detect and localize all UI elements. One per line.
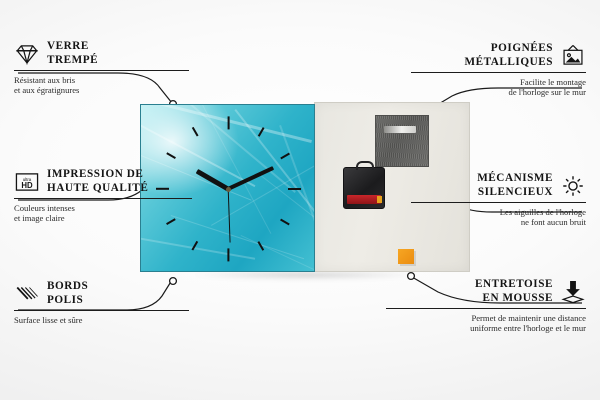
feature-desc: Facilite le montage de l'horloge sur le … [411, 77, 586, 98]
feature-title: MÉCANISME SILENCIEUX [477, 172, 553, 199]
metal-hanger-plate [375, 115, 429, 167]
feature-desc: Couleurs intenses et image claire [14, 203, 192, 224]
ultra-hd-icon: ultra HD [14, 169, 40, 195]
feature-divider [14, 70, 189, 71]
clock-tick [280, 153, 289, 159]
feature-divider [411, 72, 586, 73]
feature-divider [14, 198, 192, 199]
feature-poignees-metalliques: POIGNÉES MÉTALLIQUES Facilite le montage… [411, 42, 586, 98]
hanger-slot-icon [384, 126, 416, 133]
clock-mechanism [343, 167, 385, 209]
clock-tick [166, 153, 175, 159]
gear-icon [560, 173, 586, 199]
clock-tick [192, 127, 198, 136]
feature-title: VERRE TREMPÉ [47, 40, 98, 67]
clock-hub [226, 187, 231, 192]
mechanism-loop-icon [356, 161, 374, 170]
svg-text:HD: HD [21, 181, 33, 190]
feather-streak [140, 237, 255, 260]
feature-mecanisme-silencieux: MÉCANISME SILENCIEUX Les aiguilles de l'… [411, 172, 586, 228]
feature-verre-trempe: VERRE TREMPÉ Résistant aux bris et aux é… [14, 40, 189, 96]
press-down-icon [560, 279, 586, 305]
feature-desc: Les aiguilles de l'horloge ne font aucun… [411, 207, 586, 228]
feature-impression-hd: ultra HD IMPRESSION DE HAUTE QUALITÉ Cou… [14, 168, 192, 224]
minute-hand [227, 166, 274, 191]
clock-tick [280, 219, 289, 225]
feature-title: ENTRETOISE EN MOUSSE [475, 278, 553, 305]
diamond-icon [14, 41, 40, 67]
feather-streak [240, 235, 315, 272]
feature-desc: Surface lisse et sûre [14, 315, 189, 326]
feature-bords-polis: BORDS POLIS Surface lisse et sûre [14, 280, 189, 325]
polished-edges-icon [14, 281, 40, 307]
foam-spacer [398, 249, 414, 264]
feature-divider [14, 310, 189, 311]
feature-title: IMPRESSION DE HAUTE QUALITÉ [47, 168, 148, 195]
clock-tick [227, 248, 229, 261]
feature-title: POIGNÉES MÉTALLIQUES [464, 42, 553, 69]
clock-tick [227, 116, 229, 129]
battery [347, 195, 381, 204]
feature-title: BORDS POLIS [47, 280, 88, 307]
feature-entretoise-en-mousse: ENTRETOISE EN MOUSSE Permet de maintenir… [386, 278, 586, 334]
clock-tick [288, 188, 301, 190]
feature-divider [386, 308, 586, 309]
feature-divider [411, 202, 586, 203]
hanging-frame-icon [560, 43, 586, 69]
feature-desc: Permet de maintenir une distance uniform… [386, 313, 586, 334]
feature-desc: Résistant aux bris et aux égratignures [14, 75, 189, 96]
